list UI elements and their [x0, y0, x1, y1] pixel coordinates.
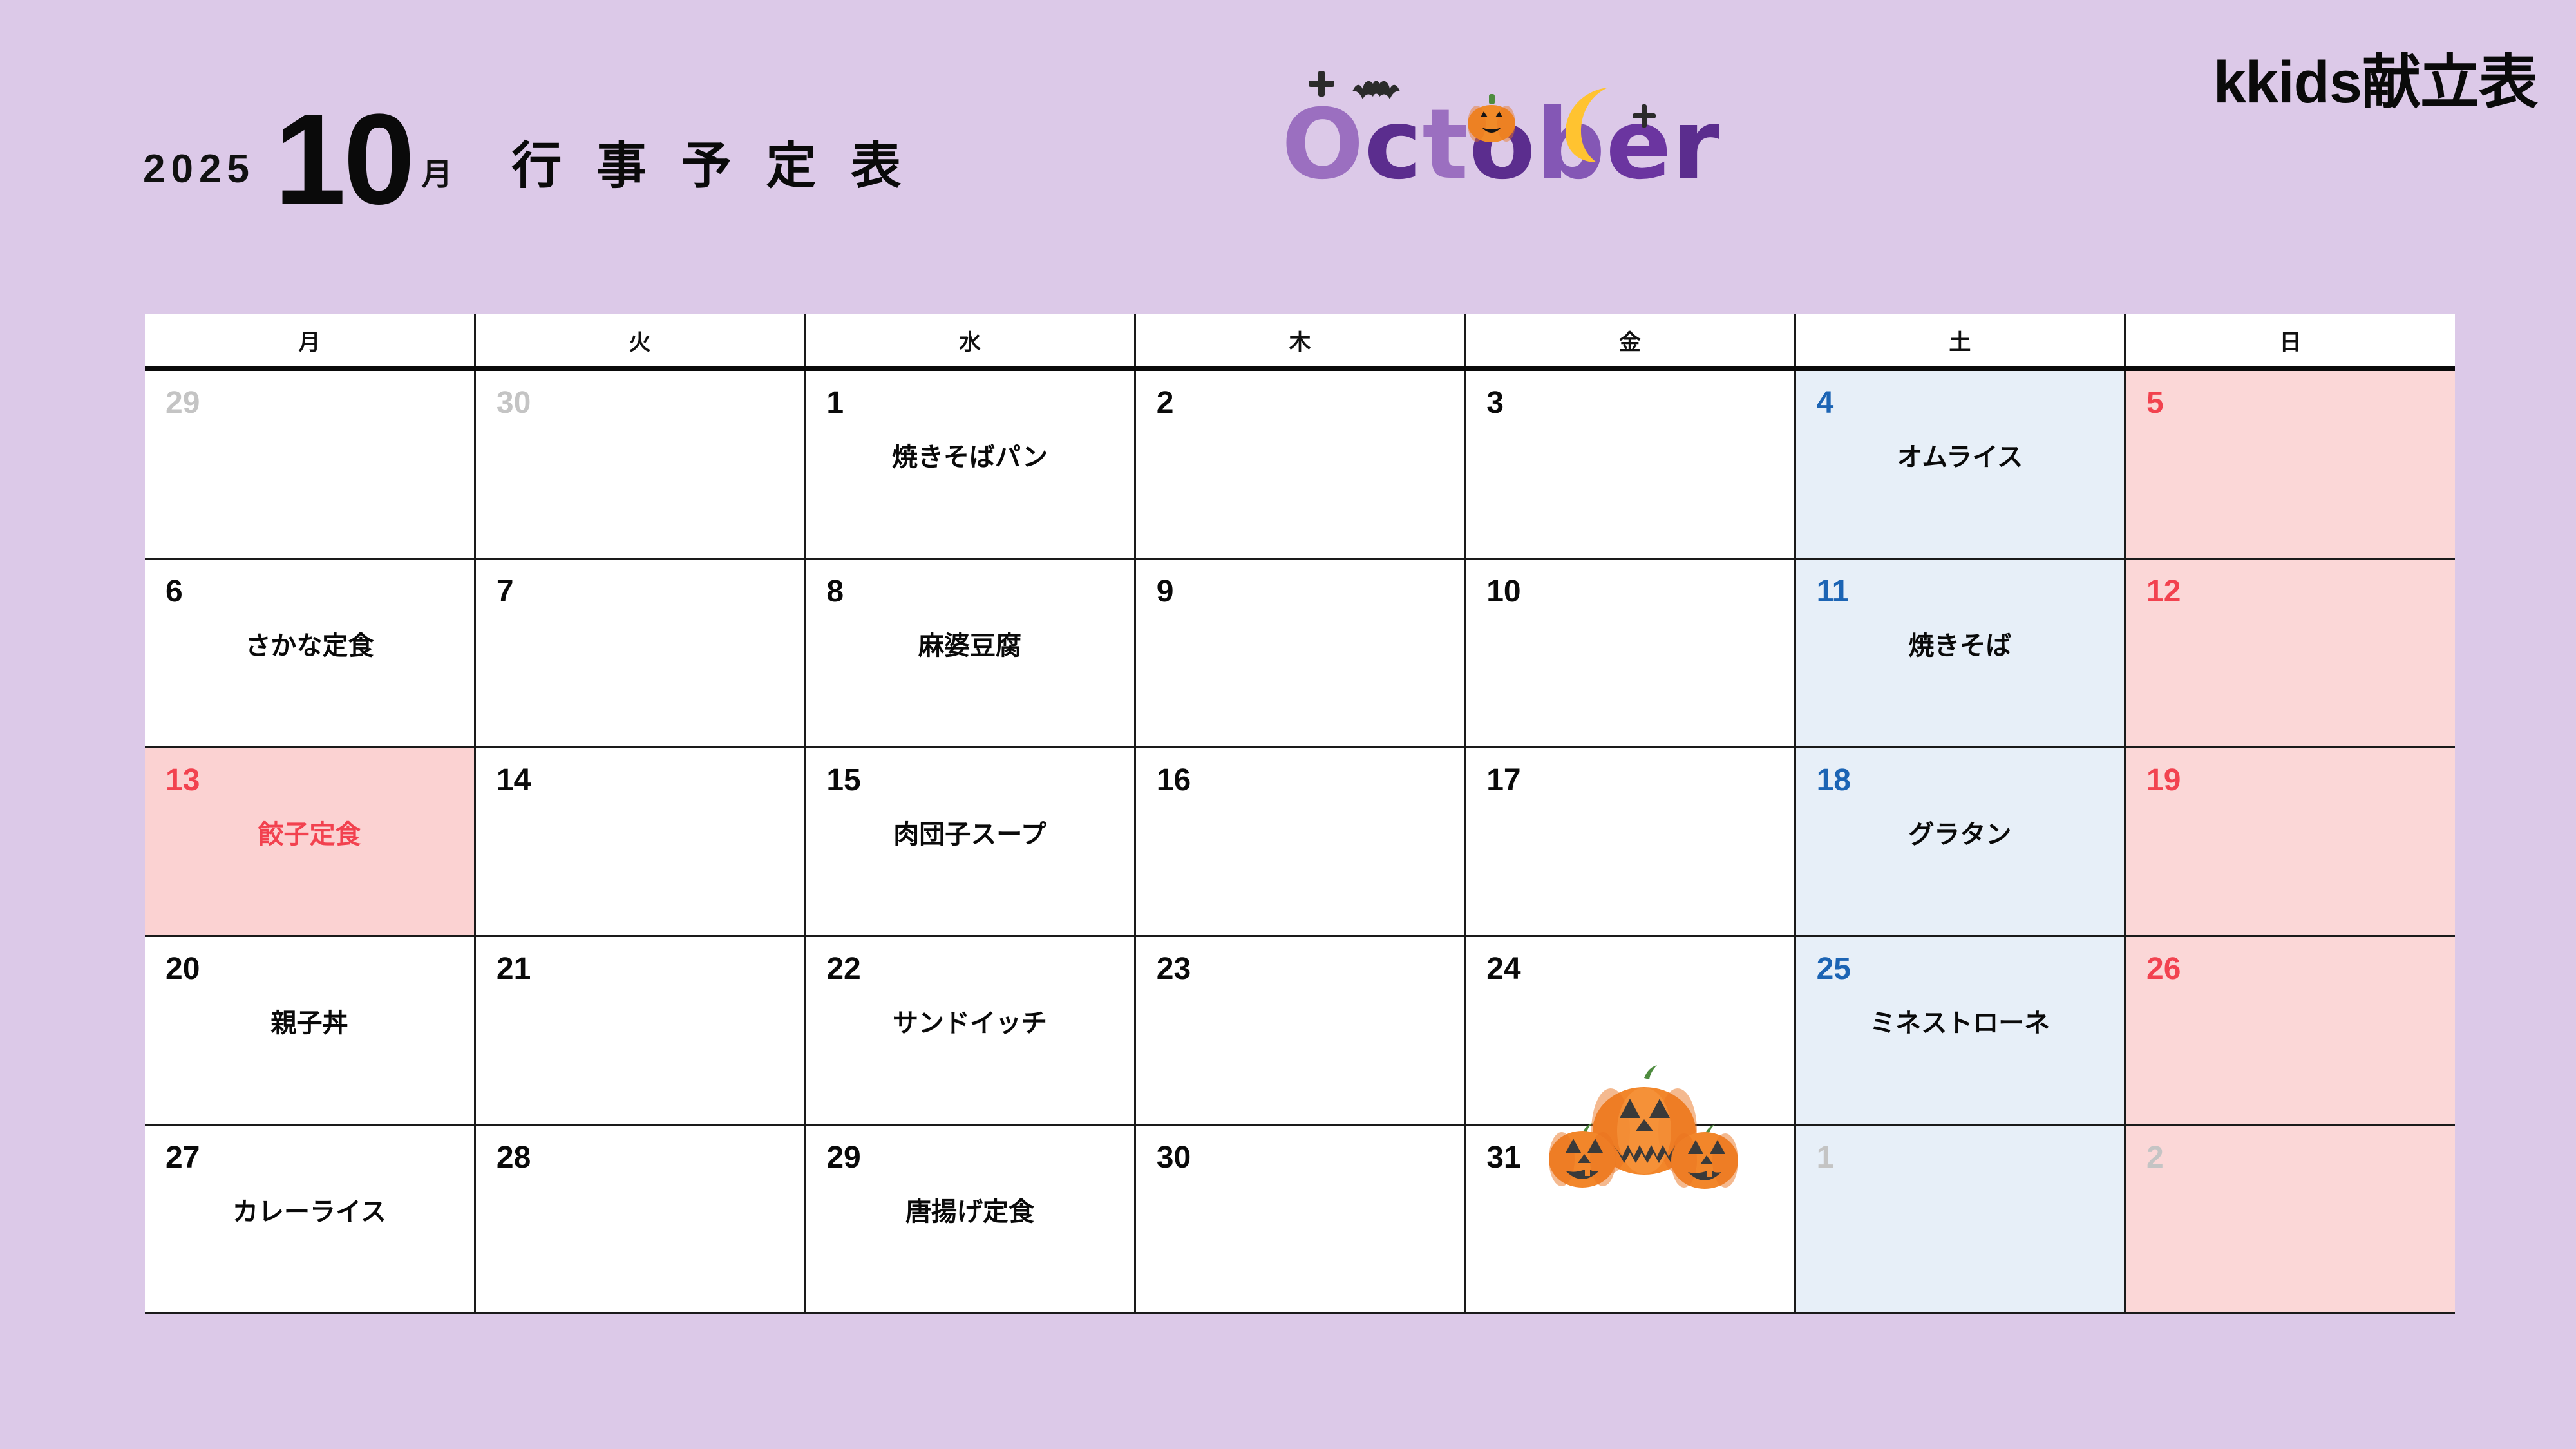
day-number: 10: [1486, 576, 1520, 607]
meal-label: グラタン: [1796, 819, 2124, 850]
weekday-header-tue: 火: [475, 314, 804, 369]
calendar-day-cell[interactable]: 13餃子定食: [145, 748, 475, 936]
day-number: 19: [2146, 765, 2181, 796]
calendar-day-cell[interactable]: 30: [1135, 1125, 1464, 1314]
calendar-day-cell[interactable]: 21: [475, 936, 804, 1125]
calendar-header-row: 月 火 水 木 金 土 日: [145, 314, 2455, 369]
cross-icon: [1309, 71, 1334, 97]
day-number: 2: [2146, 1142, 2164, 1173]
month-kanji-label: 月: [421, 160, 452, 213]
calendar-day-cell[interactable]: 30: [475, 369, 804, 559]
day-number: 9: [1157, 576, 1174, 607]
meal-label: カレーライス: [145, 1197, 474, 1227]
moon-icon: [1555, 85, 1624, 165]
day-number: 11: [1817, 576, 1850, 607]
october-wordart: October: [1282, 77, 1681, 200]
day-number: 30: [1157, 1142, 1191, 1173]
calendar-week-row: 29301焼きそばパン234オムライス5: [145, 369, 2455, 559]
day-number: 29: [826, 1142, 860, 1173]
calendar-day-cell[interactable]: 17: [1465, 748, 1795, 936]
meal-label: 唐揚げ定食: [806, 1197, 1133, 1227]
calendar-day-cell[interactable]: 11焼きそば: [1795, 559, 2125, 748]
day-number: 16: [1157, 765, 1191, 796]
calendar-day-cell[interactable]: 5: [2125, 369, 2455, 559]
calendar-day-cell[interactable]: 9: [1135, 559, 1464, 748]
page-header: 2025 10 月 行 事 予 定 表 October k: [0, 0, 2576, 303]
weekday-header-fri: 金: [1465, 314, 1795, 369]
calendar-day-cell[interactable]: 3: [1465, 369, 1795, 559]
day-number: 7: [497, 576, 514, 607]
page-title: 行 事 予 定 表: [511, 140, 911, 213]
calendar-day-cell[interactable]: 22サンドイッチ: [805, 936, 1135, 1125]
bat-icon: [1351, 77, 1401, 107]
calendar-day-cell[interactable]: 31: [1465, 1125, 1795, 1314]
calendar-table: 月 火 水 木 金 土 日 29301焼きそばパン234オムライス56さかな定食…: [145, 314, 2455, 1314]
weekday-header-sat: 土: [1795, 314, 2125, 369]
calendar-day-cell[interactable]: 16: [1135, 748, 1464, 936]
day-number: 1: [826, 388, 844, 419]
meal-label: オムライス: [1796, 442, 2124, 473]
calendar-day-cell[interactable]: 20親子丼: [145, 936, 475, 1125]
calendar-day-cell[interactable]: 29: [145, 369, 475, 559]
calendar-day-cell[interactable]: 2: [1135, 369, 1464, 559]
day-number: 14: [497, 765, 531, 796]
day-number: 2: [1157, 388, 1174, 419]
calendar-day-cell[interactable]: 2: [2125, 1125, 2455, 1314]
year-label: 2025: [143, 149, 255, 213]
meal-label: ミネストローネ: [1796, 1008, 2124, 1039]
cross-icon: [1633, 104, 1656, 128]
october-letter-o1: O: [1282, 97, 1365, 193]
month-number: 10: [274, 107, 412, 213]
meal-label: 焼きそばパン: [806, 442, 1133, 473]
calendar-day-cell[interactable]: 1: [1795, 1125, 2125, 1314]
calendar-day-cell[interactable]: 10: [1465, 559, 1795, 748]
weekday-header-sun: 日: [2125, 314, 2455, 369]
calendar-week-row: 13餃子定食1415肉団子スープ161718グラタン19: [145, 748, 2455, 936]
day-number: 25: [1817, 954, 1851, 985]
day-number: 18: [1817, 765, 1851, 796]
october-letter-c: c: [1365, 97, 1423, 193]
calendar-day-cell[interactable]: 12: [2125, 559, 2455, 748]
day-number: 29: [166, 388, 200, 419]
day-number: 24: [1486, 954, 1520, 985]
calendar-body: 29301焼きそばパン234オムライス56さかな定食78麻婆豆腐91011焼きそ…: [145, 369, 2455, 1314]
calendar-day-cell[interactable]: 7: [475, 559, 804, 748]
calendar-day-cell[interactable]: 27カレーライス: [145, 1125, 475, 1314]
calendar-week-row: 20親子丼2122サンドイッチ232425ミネストローネ26: [145, 936, 2455, 1125]
weekday-header-thu: 木: [1135, 314, 1464, 369]
day-number: 17: [1486, 765, 1520, 796]
calendar-day-cell[interactable]: 15肉団子スープ: [805, 748, 1135, 936]
day-number: 26: [2146, 954, 2181, 985]
calendar-day-cell[interactable]: 25ミネストローネ: [1795, 936, 2125, 1125]
calendar-day-cell[interactable]: 14: [475, 748, 804, 936]
day-number: 4: [1817, 388, 1834, 419]
day-number: 5: [2146, 388, 2164, 419]
day-number: 27: [166, 1142, 200, 1173]
title-block: 2025 10 月 行 事 予 定 表: [143, 84, 911, 213]
weekday-header-mon: 月: [145, 314, 475, 369]
meal-label: 焼きそば: [1796, 630, 2124, 661]
day-number: 23: [1157, 954, 1191, 985]
meal-label: さかな定食: [145, 630, 474, 661]
day-number: 22: [826, 954, 860, 985]
calendar-day-cell[interactable]: 1焼きそばパン: [805, 369, 1135, 559]
day-number: 28: [497, 1142, 531, 1173]
calendar-day-cell[interactable]: 19: [2125, 748, 2455, 936]
day-number: 30: [497, 388, 531, 419]
day-number: 13: [166, 765, 200, 796]
calendar-day-cell[interactable]: 6さかな定食: [145, 559, 475, 748]
meal-label: 親子丼: [145, 1008, 474, 1039]
day-number: 1: [1817, 1142, 1834, 1173]
october-letter-r: r: [1672, 97, 1720, 193]
meal-label: 餃子定食: [145, 819, 474, 850]
calendar: 月 火 水 木 金 土 日 29301焼きそばパン234オムライス56さかな定食…: [145, 314, 2455, 1314]
brand-title: kkids献立表: [2213, 53, 2537, 112]
calendar-day-cell[interactable]: 26: [2125, 936, 2455, 1125]
day-number: 20: [166, 954, 200, 985]
calendar-week-row: 27カレーライス2829唐揚げ定食303112: [145, 1125, 2455, 1314]
day-number: 6: [166, 576, 183, 607]
calendar-day-cell[interactable]: 8麻婆豆腐: [805, 559, 1135, 748]
meal-label: 麻婆豆腐: [806, 630, 1133, 661]
day-number: 3: [1486, 388, 1504, 419]
day-number: 12: [2146, 576, 2181, 607]
calendar-day-cell[interactable]: 28: [475, 1125, 804, 1314]
calendar-week-row: 6さかな定食78麻婆豆腐91011焼きそば12: [145, 559, 2455, 748]
day-number: 31: [1486, 1142, 1520, 1173]
calendar-day-cell[interactable]: 4オムライス: [1795, 369, 2125, 559]
meal-label: 肉団子スープ: [806, 819, 1133, 850]
pumpkin-icon: [1466, 94, 1517, 143]
october-letter-t: t: [1422, 97, 1469, 193]
day-number: 21: [497, 954, 531, 985]
calendar-day-cell[interactable]: 24: [1465, 936, 1795, 1125]
meal-label: サンドイッチ: [806, 1008, 1133, 1039]
day-number: 8: [826, 576, 844, 607]
weekday-header-wed: 水: [805, 314, 1135, 369]
calendar-day-cell[interactable]: 29唐揚げ定食: [805, 1125, 1135, 1314]
calendar-day-cell[interactable]: 23: [1135, 936, 1464, 1125]
calendar-day-cell[interactable]: 18グラタン: [1795, 748, 2125, 936]
day-number: 15: [826, 765, 860, 796]
